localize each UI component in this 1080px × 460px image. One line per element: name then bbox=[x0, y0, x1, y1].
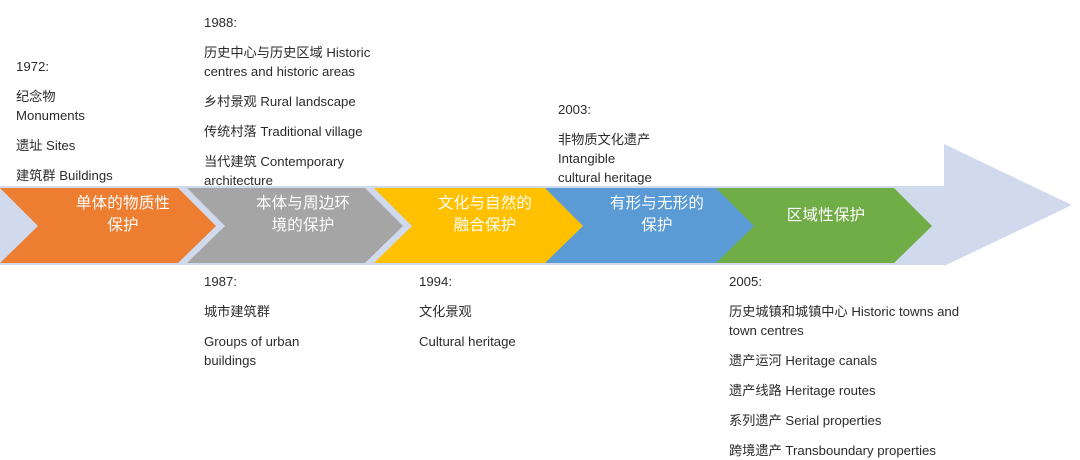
note-1987: 1987: 城市建筑群 Groups of urban buildings bbox=[204, 272, 384, 370]
note-year: 1988: bbox=[204, 13, 404, 32]
note-1994: 1994: 文化景观 Cultural heritage bbox=[419, 272, 599, 351]
note-line: 文化景观 bbox=[419, 302, 599, 321]
stage-label-4[interactable]: 有形与无形的 保护 bbox=[582, 193, 732, 237]
note-line: Groups of urban buildings bbox=[204, 332, 384, 370]
note-line: 系列遗产 Serial properties bbox=[729, 411, 1059, 430]
note-line: 遗产线路 Heritage routes bbox=[729, 381, 1059, 400]
note-line: 当代建筑 Contemporary architecture bbox=[204, 152, 404, 190]
note-year: 2003: bbox=[558, 100, 738, 119]
note-line: Cultural heritage bbox=[419, 332, 599, 351]
stage-label-3[interactable]: 文化与自然的 融合保护 bbox=[410, 193, 560, 237]
note-year: 1972: bbox=[16, 57, 186, 76]
note-year: 1987: bbox=[204, 272, 384, 291]
note-line: 传统村落 Traditional village bbox=[204, 122, 404, 141]
note-line: 城市建筑群 bbox=[204, 302, 384, 321]
stage-label-5[interactable]: 区域性保护 bbox=[750, 205, 902, 227]
stage-label-1[interactable]: 单体的物质性 保护 bbox=[48, 193, 198, 237]
note-1988: 1988: 历史中心与历史区域 Historic centres and his… bbox=[204, 13, 404, 190]
note-1972: 1972: 纪念物 Monuments 遗址 Sites 建筑群 Buildin… bbox=[16, 57, 186, 185]
note-line: 历史城镇和城镇中心 Historic towns and town centre… bbox=[729, 302, 1059, 340]
note-year: 2005: bbox=[729, 272, 1059, 291]
note-2003: 2003: 非物质文化遗产 Intangible cultural herita… bbox=[558, 100, 738, 187]
note-year: 1994: bbox=[419, 272, 599, 291]
note-line: Intangible bbox=[558, 149, 738, 168]
note-line: 非物质文化遗产 bbox=[558, 130, 738, 149]
diagram-canvas: 单体的物质性 保护 本体与周边环 境的保护 文化与自然的 融合保护 有形与无形的… bbox=[0, 0, 1080, 449]
note-line: 纪念物 Monuments bbox=[16, 87, 186, 125]
note-2005: 2005: 历史城镇和城镇中心 Historic towns and town … bbox=[729, 272, 1059, 460]
note-line: 建筑群 Buildings bbox=[16, 166, 186, 185]
note-line: 遗产运河 Heritage canals bbox=[729, 351, 1059, 370]
note-line: 乡村景观 Rural landscape bbox=[204, 92, 404, 111]
stage-label-2[interactable]: 本体与周边环 境的保护 bbox=[228, 193, 378, 237]
note-line: 历史中心与历史区域 Historic centres and historic … bbox=[204, 43, 404, 81]
note-line: cultural heritage bbox=[558, 168, 738, 187]
note-line: 遗址 Sites bbox=[16, 136, 186, 155]
note-line: 跨境遗产 Transboundary properties bbox=[729, 441, 1059, 460]
